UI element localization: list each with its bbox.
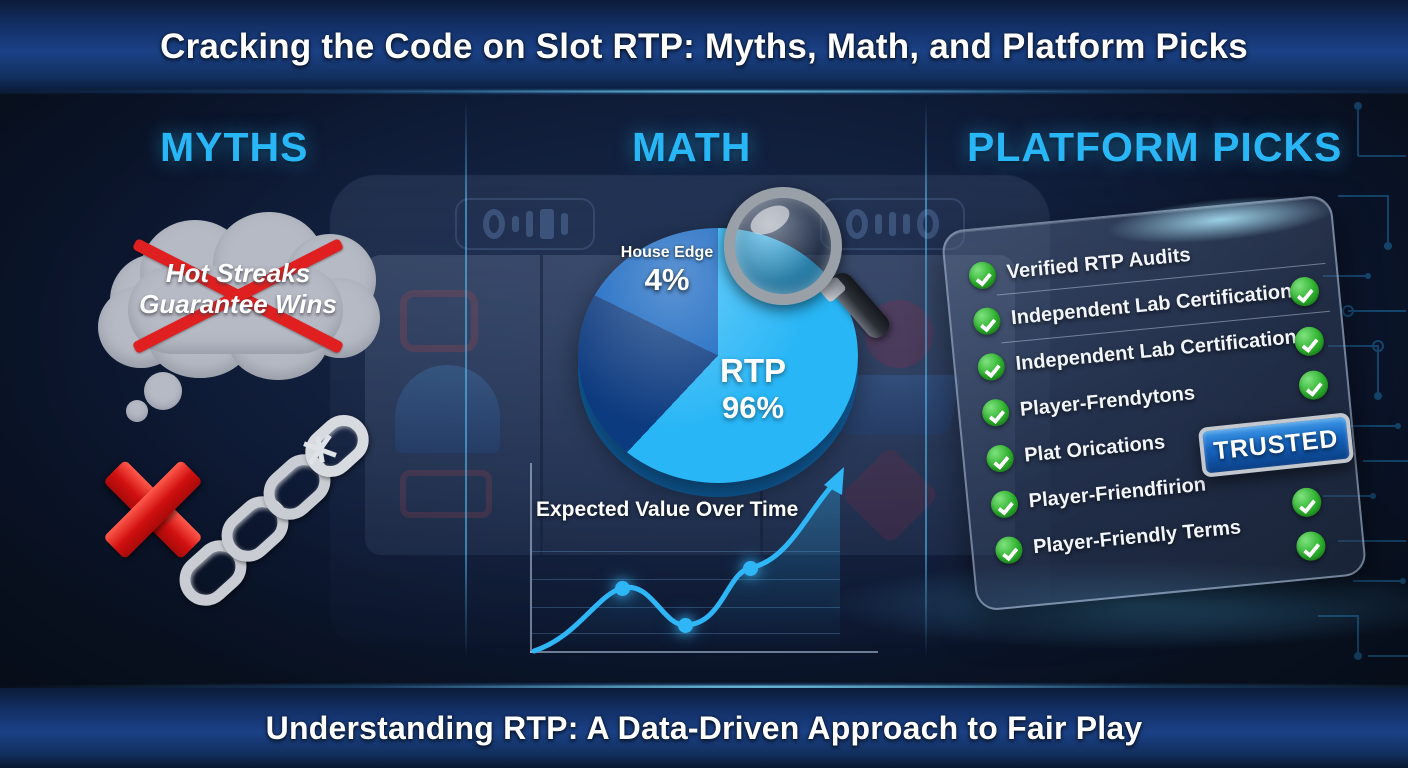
myth-thought-cloud: Hot Streaks Guarantee Wins [88,212,388,387]
thought-bubble-small [126,400,148,422]
myth-cloud-text: Hot Streaks Guarantee Wins [88,258,388,320]
chart-line-path [522,455,877,660]
platform-checklist-panel[interactable]: Verified RTP Audits Independent Lab Cert… [941,194,1368,612]
green-check-circle-icon [990,489,1019,518]
top-banner-glow [0,88,1408,95]
infographic-poster: Cracking the Code on Slot RTP: Myths, Ma… [0,0,1408,768]
list-item-label: Player-Friendly Terms [1032,516,1242,559]
myth-line-1: Hot Streaks [88,258,388,289]
pie-value-rtp: 96% [683,390,823,426]
thought-bubble-large [144,372,182,410]
section-header-myths: MYTHS [160,124,309,171]
green-check-circle-icon [994,535,1023,564]
myth-line-2: Guarantee Wins [88,289,388,320]
expected-value-line-chart: Expected Value Over Time [522,455,877,660]
top-banner: Cracking the Code on Slot RTP: Myths, Ma… [0,0,1408,94]
section-divider-right [925,100,927,660]
green-check-circle-icon [977,352,1006,381]
list-item-label: Player-Frendytons [1019,382,1196,422]
checklist: Verified RTP Audits Independent Lab Cert… [967,220,1344,574]
pie-label-rtp: RTP [683,352,823,390]
page-title: Cracking the Code on Slot RTP: Myths, Ma… [160,27,1248,67]
pie-label-house-edge: House Edge [607,244,727,262]
page-subtitle: Understanding RTP: A Data-Driven Approac… [266,710,1143,747]
green-check-circle-icon [968,260,997,289]
magnifying-glass-icon [722,185,897,350]
list-item-label: Plat Orications [1023,431,1166,467]
section-header-math: MATH [632,124,751,171]
list-item-label: Player-Friendfirion [1028,473,1207,513]
green-check-circle-icon [981,397,1010,426]
chart-data-point [615,581,630,596]
green-check-circle-icon [972,306,1001,335]
green-check-circle-icon [985,443,1014,472]
section-header-platform-picks: PLATFORM PICKS [967,124,1342,171]
chart-data-point [678,618,693,633]
trusted-badge-label: TRUSTED [1212,424,1339,466]
bottom-banner: Understanding RTP: A Data-Driven Approac… [0,688,1408,768]
chart-data-point [743,561,758,576]
section-divider-left [465,100,467,660]
pie-value-house-edge: 4% [607,262,727,298]
broken-chain-icon [175,425,385,635]
